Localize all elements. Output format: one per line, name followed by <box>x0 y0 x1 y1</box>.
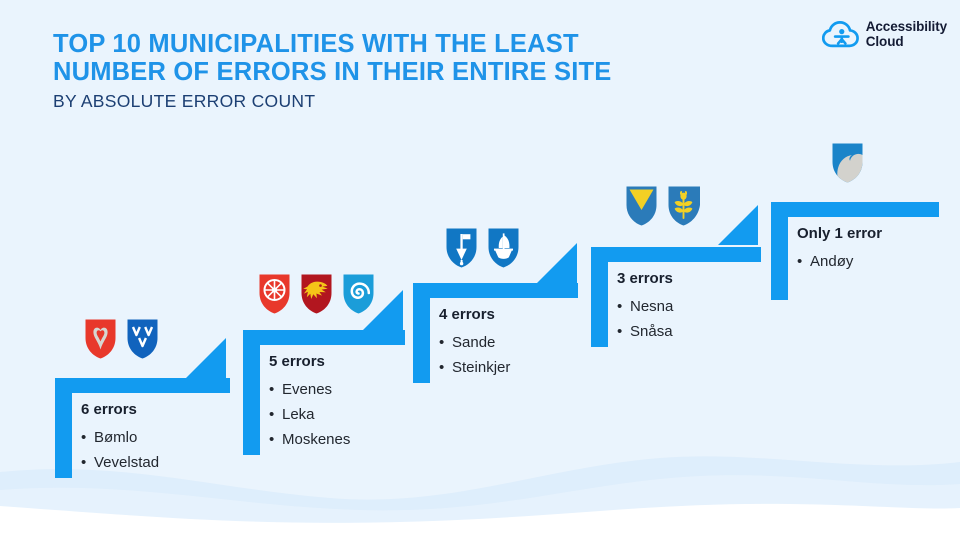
step-connector-1 <box>186 338 226 378</box>
step-bracket-left-bar <box>591 247 608 347</box>
header: TOP 10 MUNICIPALITIES WITH THE LEAST NUM… <box>53 30 753 111</box>
steinkjer-crest <box>487 227 520 269</box>
page-title-line1: TOP 10 MUNICIPALITIES WITH THE LEAST <box>53 30 753 58</box>
step-6-errors: 6 errors Bømlo Vevelstad <box>55 378 230 478</box>
crest-row-step-1 <box>84 318 159 360</box>
leka-crest <box>300 273 333 315</box>
step-bracket-left-bar <box>413 283 430 383</box>
list-item: Moskenes <box>269 427 479 452</box>
accessibility-cloud-icon <box>822 21 859 48</box>
logo-text-line1: Accessibility <box>866 20 947 35</box>
step-bracket-left-bar <box>55 378 72 478</box>
logo-text-line2: Cloud <box>866 35 947 50</box>
list-item: Leka <box>269 402 479 427</box>
step-connector-4 <box>718 205 758 245</box>
step-content: Only 1 error Andøy <box>797 224 960 274</box>
crest-row-step-4 <box>625 185 700 227</box>
crest-row-step-3 <box>445 227 520 269</box>
step-3-errors: 3 errors Nesna Snåsa <box>591 247 761 347</box>
evenes-crest <box>258 273 291 315</box>
step-connector-2 <box>363 290 403 330</box>
page-subtitle: BY ABSOLUTE ERROR COUNT <box>53 91 753 111</box>
municipality-list: Nesna Snåsa <box>617 294 827 344</box>
step-bracket-left-bar <box>243 330 260 455</box>
step-5-errors: 5 errors Evenes Leka Moskenes <box>243 330 405 455</box>
list-item: Steinkjer <box>439 355 649 380</box>
step-connector-3 <box>537 243 577 283</box>
step-bracket-top-bar <box>591 247 761 262</box>
logo-wordmark: Accessibility Cloud <box>866 20 947 49</box>
step-1-error: Only 1 error Andøy <box>771 202 939 300</box>
step-bracket-top-bar <box>771 202 939 217</box>
step-bracket-left-bar <box>771 202 788 300</box>
list-item: Snåsa <box>617 319 827 344</box>
list-item: Andøy <box>797 249 960 274</box>
step-4-errors: 4 errors Sande Steinkjer <box>413 283 578 383</box>
nesna-crest <box>625 185 658 227</box>
brand-logo: Accessibility Cloud <box>822 20 947 49</box>
step-bracket-top-bar <box>243 330 405 345</box>
crest-row-step-2 <box>258 273 375 315</box>
municipality-list: Andøy <box>797 249 960 274</box>
sande-crest <box>445 227 478 269</box>
bomlo-crest <box>84 318 117 360</box>
snasa-crest <box>667 185 700 227</box>
page-title-line2: NUMBER OF ERRORS IN THEIR ENTIRE SITE <box>53 58 753 86</box>
andoy-crest <box>831 142 864 184</box>
step-heading: Only 1 error <box>797 224 960 243</box>
step-bracket-top-bar <box>55 378 230 393</box>
crest-row-step-5 <box>831 142 864 184</box>
infographic-canvas: TOP 10 MUNICIPALITIES WITH THE LEAST NUM… <box>0 0 960 540</box>
step-bracket-top-bar <box>413 283 578 298</box>
vevelstad-crest <box>126 318 159 360</box>
municipality-list: Evenes Leka Moskenes <box>269 377 479 452</box>
